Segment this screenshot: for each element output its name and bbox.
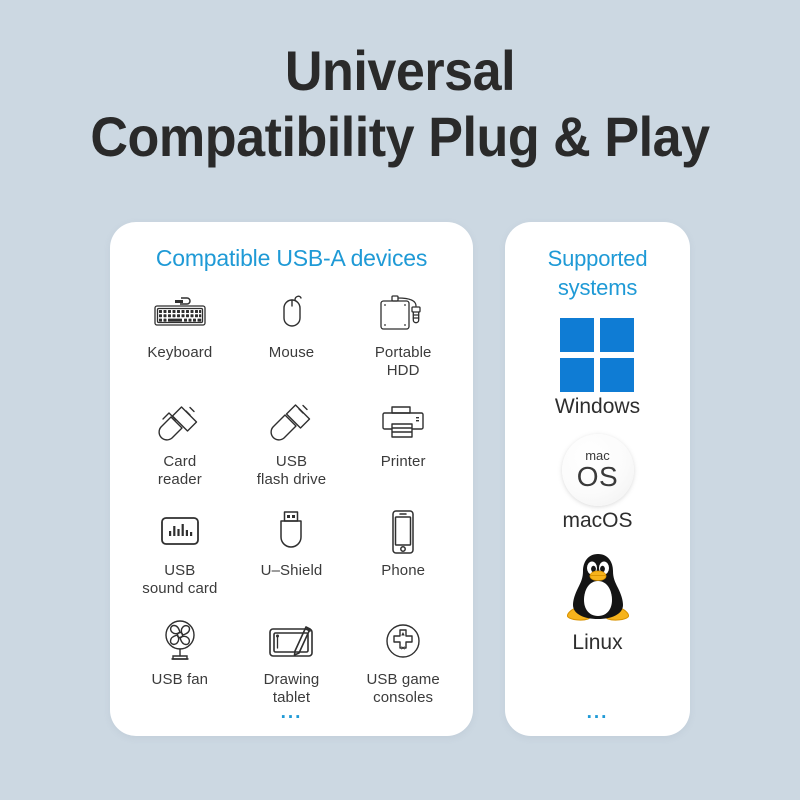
supported-systems-heading: Supported systems [515, 244, 680, 302]
macos-badge-bottom: OS [577, 463, 618, 491]
device-label: Phone [381, 562, 425, 580]
os-item-macos[interactable]: mac OS macOS [562, 434, 634, 534]
windows-square-4 [600, 358, 634, 392]
usb-fan-icon [156, 616, 204, 666]
device-label: Mouse [269, 344, 315, 362]
device-label: USB sound card [142, 562, 217, 598]
device-label: Portable HDD [375, 344, 432, 380]
device-item-portable-hdd[interactable]: Portable HDD [347, 289, 459, 390]
drawing-tablet-icon [265, 616, 317, 666]
usb-flash-drive-icon [268, 398, 314, 448]
device-label: USB flash drive [257, 453, 326, 489]
svg-text:✕: ✕ [401, 646, 406, 652]
os-item-windows[interactable]: Windows [555, 318, 640, 420]
device-label: Card reader [158, 453, 202, 489]
page-title-line-2: Compatibility Plug & Play [28, 104, 772, 170]
card-reader-icon [156, 398, 204, 448]
windows-logo-icon [560, 318, 634, 392]
device-item-u-shield[interactable]: U–Shield [236, 507, 348, 608]
macos-logo-icon: mac OS [562, 434, 634, 506]
os-label: Windows [555, 394, 640, 420]
device-item-mouse[interactable]: Mouse [236, 289, 348, 390]
compatible-devices-heading: Compatible USB-A devices [124, 244, 459, 273]
device-item-usb-sound-card[interactable]: USB sound card [124, 507, 236, 608]
device-grid: Keyboard Mouse [124, 289, 459, 717]
keyboard-icon [151, 289, 209, 339]
compatible-devices-card: Compatible USB-A devices [110, 222, 473, 736]
device-item-usb-fan[interactable]: USB fan [124, 616, 236, 717]
right-card-more-indicator[interactable]: ... [505, 708, 690, 718]
device-item-phone[interactable]: Phone [347, 507, 459, 608]
supported-systems-card: Supported systems Windows [505, 222, 690, 736]
portable-hdd-icon [375, 289, 431, 339]
device-label: Keyboard [147, 344, 212, 362]
device-item-usb-flash-drive[interactable]: USB flash drive [236, 398, 348, 499]
os-label: macOS [562, 508, 632, 534]
usb-sound-card-icon [156, 507, 204, 557]
phone-icon [387, 507, 419, 557]
cards-container: Compatible USB-A devices [110, 222, 690, 736]
mouse-icon [269, 289, 313, 339]
device-label: Printer [381, 453, 426, 471]
os-item-linux[interactable]: Linux [562, 548, 634, 656]
device-label: USB fan [152, 671, 209, 689]
page-title: Universal Compatibility Plug & Play [0, 38, 800, 170]
device-item-card-reader[interactable]: Card reader [124, 398, 236, 499]
windows-square-3 [560, 358, 594, 392]
windows-square-2 [600, 318, 634, 352]
os-list: Windows mac OS macOS [515, 318, 680, 656]
device-item-printer[interactable]: Printer [347, 398, 459, 499]
u-shield-icon [274, 507, 308, 557]
linux-tux-icon [562, 548, 634, 628]
device-item-keyboard[interactable]: Keyboard [124, 289, 236, 390]
printer-icon [378, 398, 428, 448]
windows-square-1 [560, 318, 594, 352]
os-label: Linux [572, 630, 622, 656]
left-card-more-indicator[interactable]: ... [110, 708, 473, 718]
svg-text:▲: ▲ [400, 632, 406, 638]
usb-game-console-icon: ▲ ✕ [380, 616, 426, 666]
page-title-line-1: Universal [28, 38, 772, 104]
device-label: U–Shield [261, 562, 323, 580]
device-label: USB game consoles [366, 671, 439, 707]
device-item-usb-game-console[interactable]: ▲ ✕ USB game consoles [347, 616, 459, 717]
